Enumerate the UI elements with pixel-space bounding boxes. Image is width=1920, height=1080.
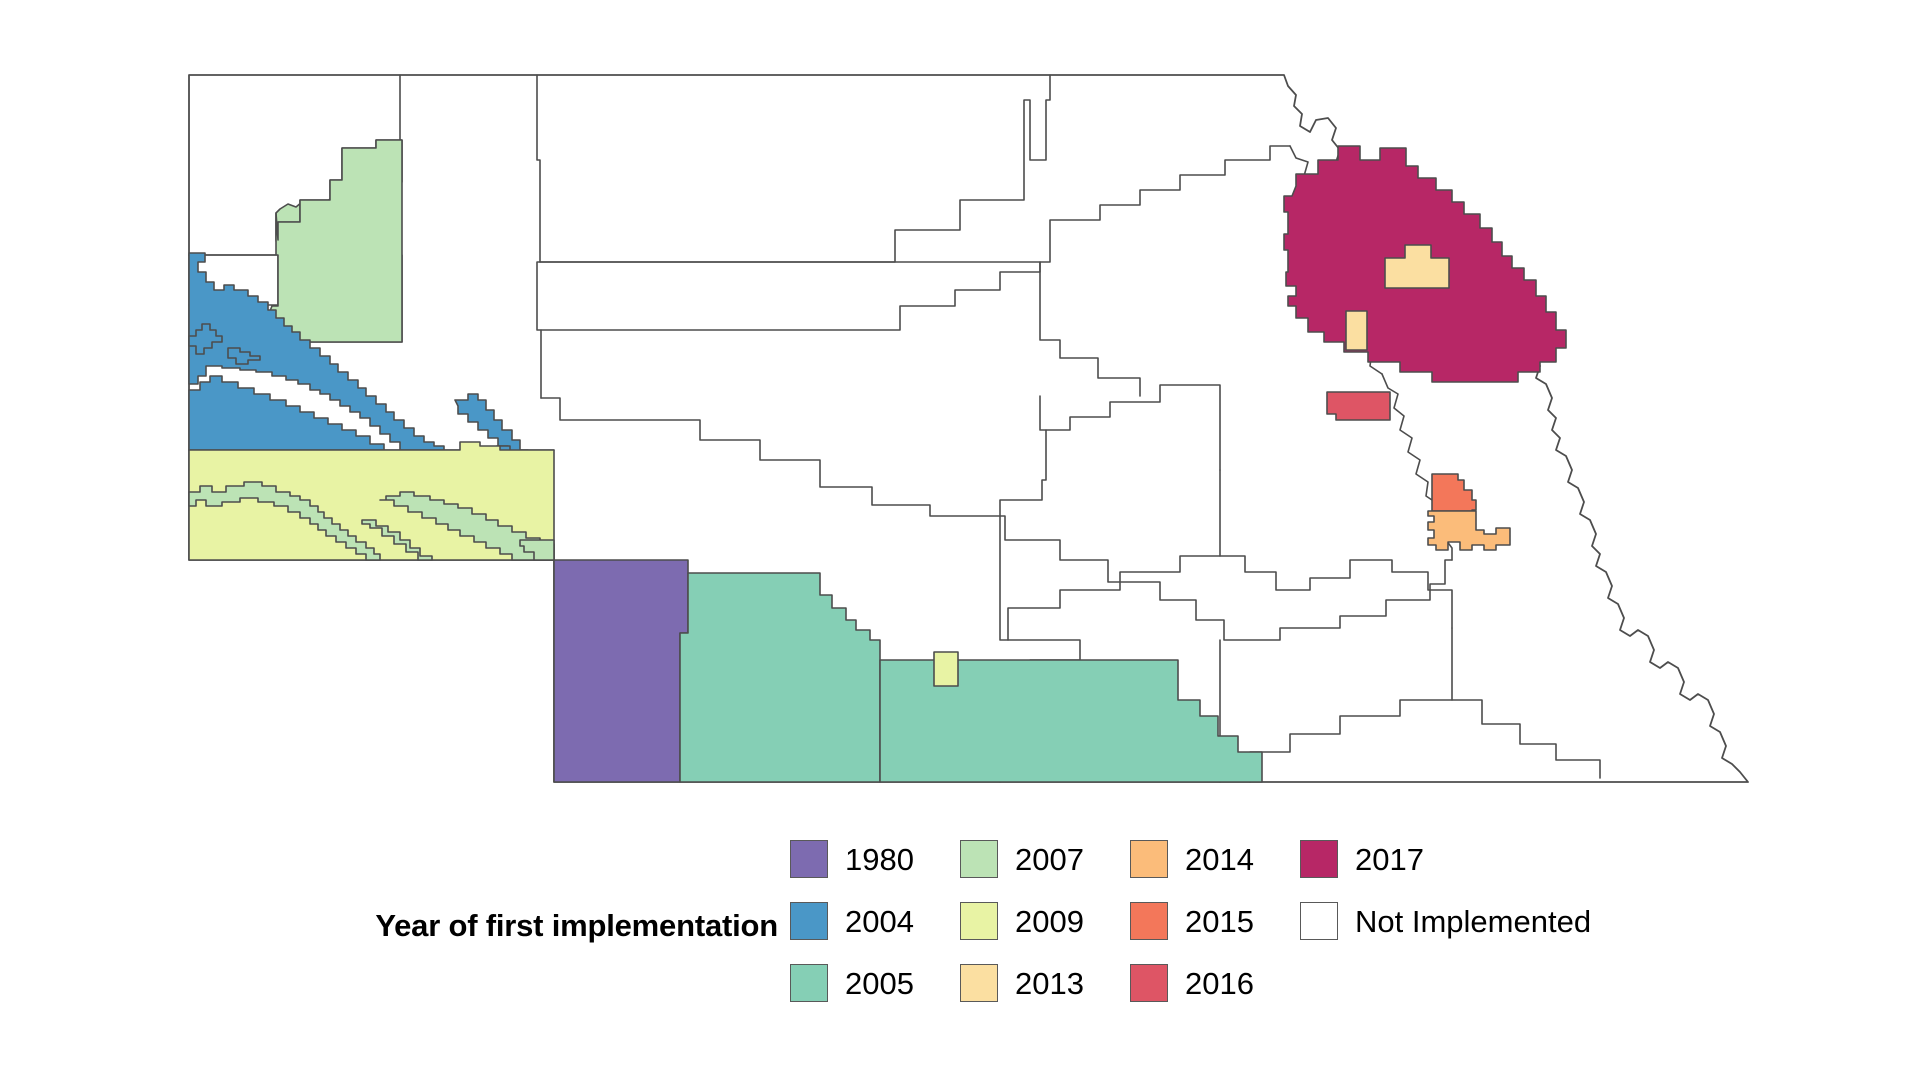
legend-label-2005: 2005 (845, 968, 914, 999)
legend-item-2015[interactable]: 2015 (1130, 890, 1254, 952)
region-northeast-enclave-2013-west (1346, 311, 1367, 350)
legend-item-2014[interactable]: 2014 (1130, 828, 1254, 890)
legend-swatch-1980 (790, 840, 828, 878)
legend-swatch-2015 (1130, 902, 1168, 940)
legend-column-4: 2017 Not Implemented (1300, 828, 1591, 952)
legend-label-2007: 2007 (1015, 844, 1084, 875)
map-legend: Year of first implementation 1980 2004 2… (0, 828, 1920, 1028)
region-south-central-tract-2009 (934, 652, 958, 686)
legend-label-1980: 1980 (845, 844, 914, 875)
legend-swatch-2007 (960, 840, 998, 878)
legend-swatch-2014 (1130, 840, 1168, 878)
legend-label-not-implemented: Not Implemented (1355, 906, 1591, 937)
legend-item-2017[interactable]: 2017 (1300, 828, 1591, 890)
legend-item-1980[interactable]: 1980 (790, 828, 914, 890)
legend-item-2007[interactable]: 2007 (960, 828, 1084, 890)
legend-item-2005[interactable]: 2005 (790, 952, 914, 1014)
legend-swatch-not-implemented (1300, 902, 1338, 940)
legend-item-not-implemented[interactable]: Not Implemented (1300, 890, 1591, 952)
legend-label-2009: 2009 (1015, 906, 1084, 937)
legend-swatch-2004 (790, 902, 828, 940)
legend-swatch-2017 (1300, 840, 1338, 878)
legend-column-1: 1980 2004 2005 (790, 828, 914, 1014)
legend-label-2014: 2014 (1185, 844, 1254, 875)
legend-swatch-2016 (1130, 964, 1168, 1002)
legend-swatch-2005 (790, 964, 828, 1002)
legend-column-2: 2007 2009 2013 (960, 828, 1084, 1014)
region-southwest-1980 (554, 560, 688, 782)
legend-swatch-2009 (960, 902, 998, 940)
legend-label-2015: 2015 (1185, 906, 1254, 937)
legend-title: Year of first implementation (258, 908, 778, 944)
legend-label-2004: 2004 (845, 906, 914, 937)
page-root: Year of first implementation 1980 2004 2… (0, 0, 1920, 1080)
legend-swatch-2013 (960, 964, 998, 1002)
legend-label-2016: 2016 (1185, 968, 1254, 999)
region-northeast-2016 (1327, 392, 1390, 420)
legend-label-2013: 2013 (1015, 968, 1084, 999)
legend-item-2004[interactable]: 2004 (790, 890, 914, 952)
legend-column-3: 2014 2015 2016 (1130, 828, 1254, 1014)
legend-item-2009[interactable]: 2009 (960, 890, 1084, 952)
legend-label-2017: 2017 (1355, 844, 1424, 875)
legend-item-2013[interactable]: 2013 (960, 952, 1084, 1014)
legend-item-2016[interactable]: 2016 (1130, 952, 1254, 1014)
